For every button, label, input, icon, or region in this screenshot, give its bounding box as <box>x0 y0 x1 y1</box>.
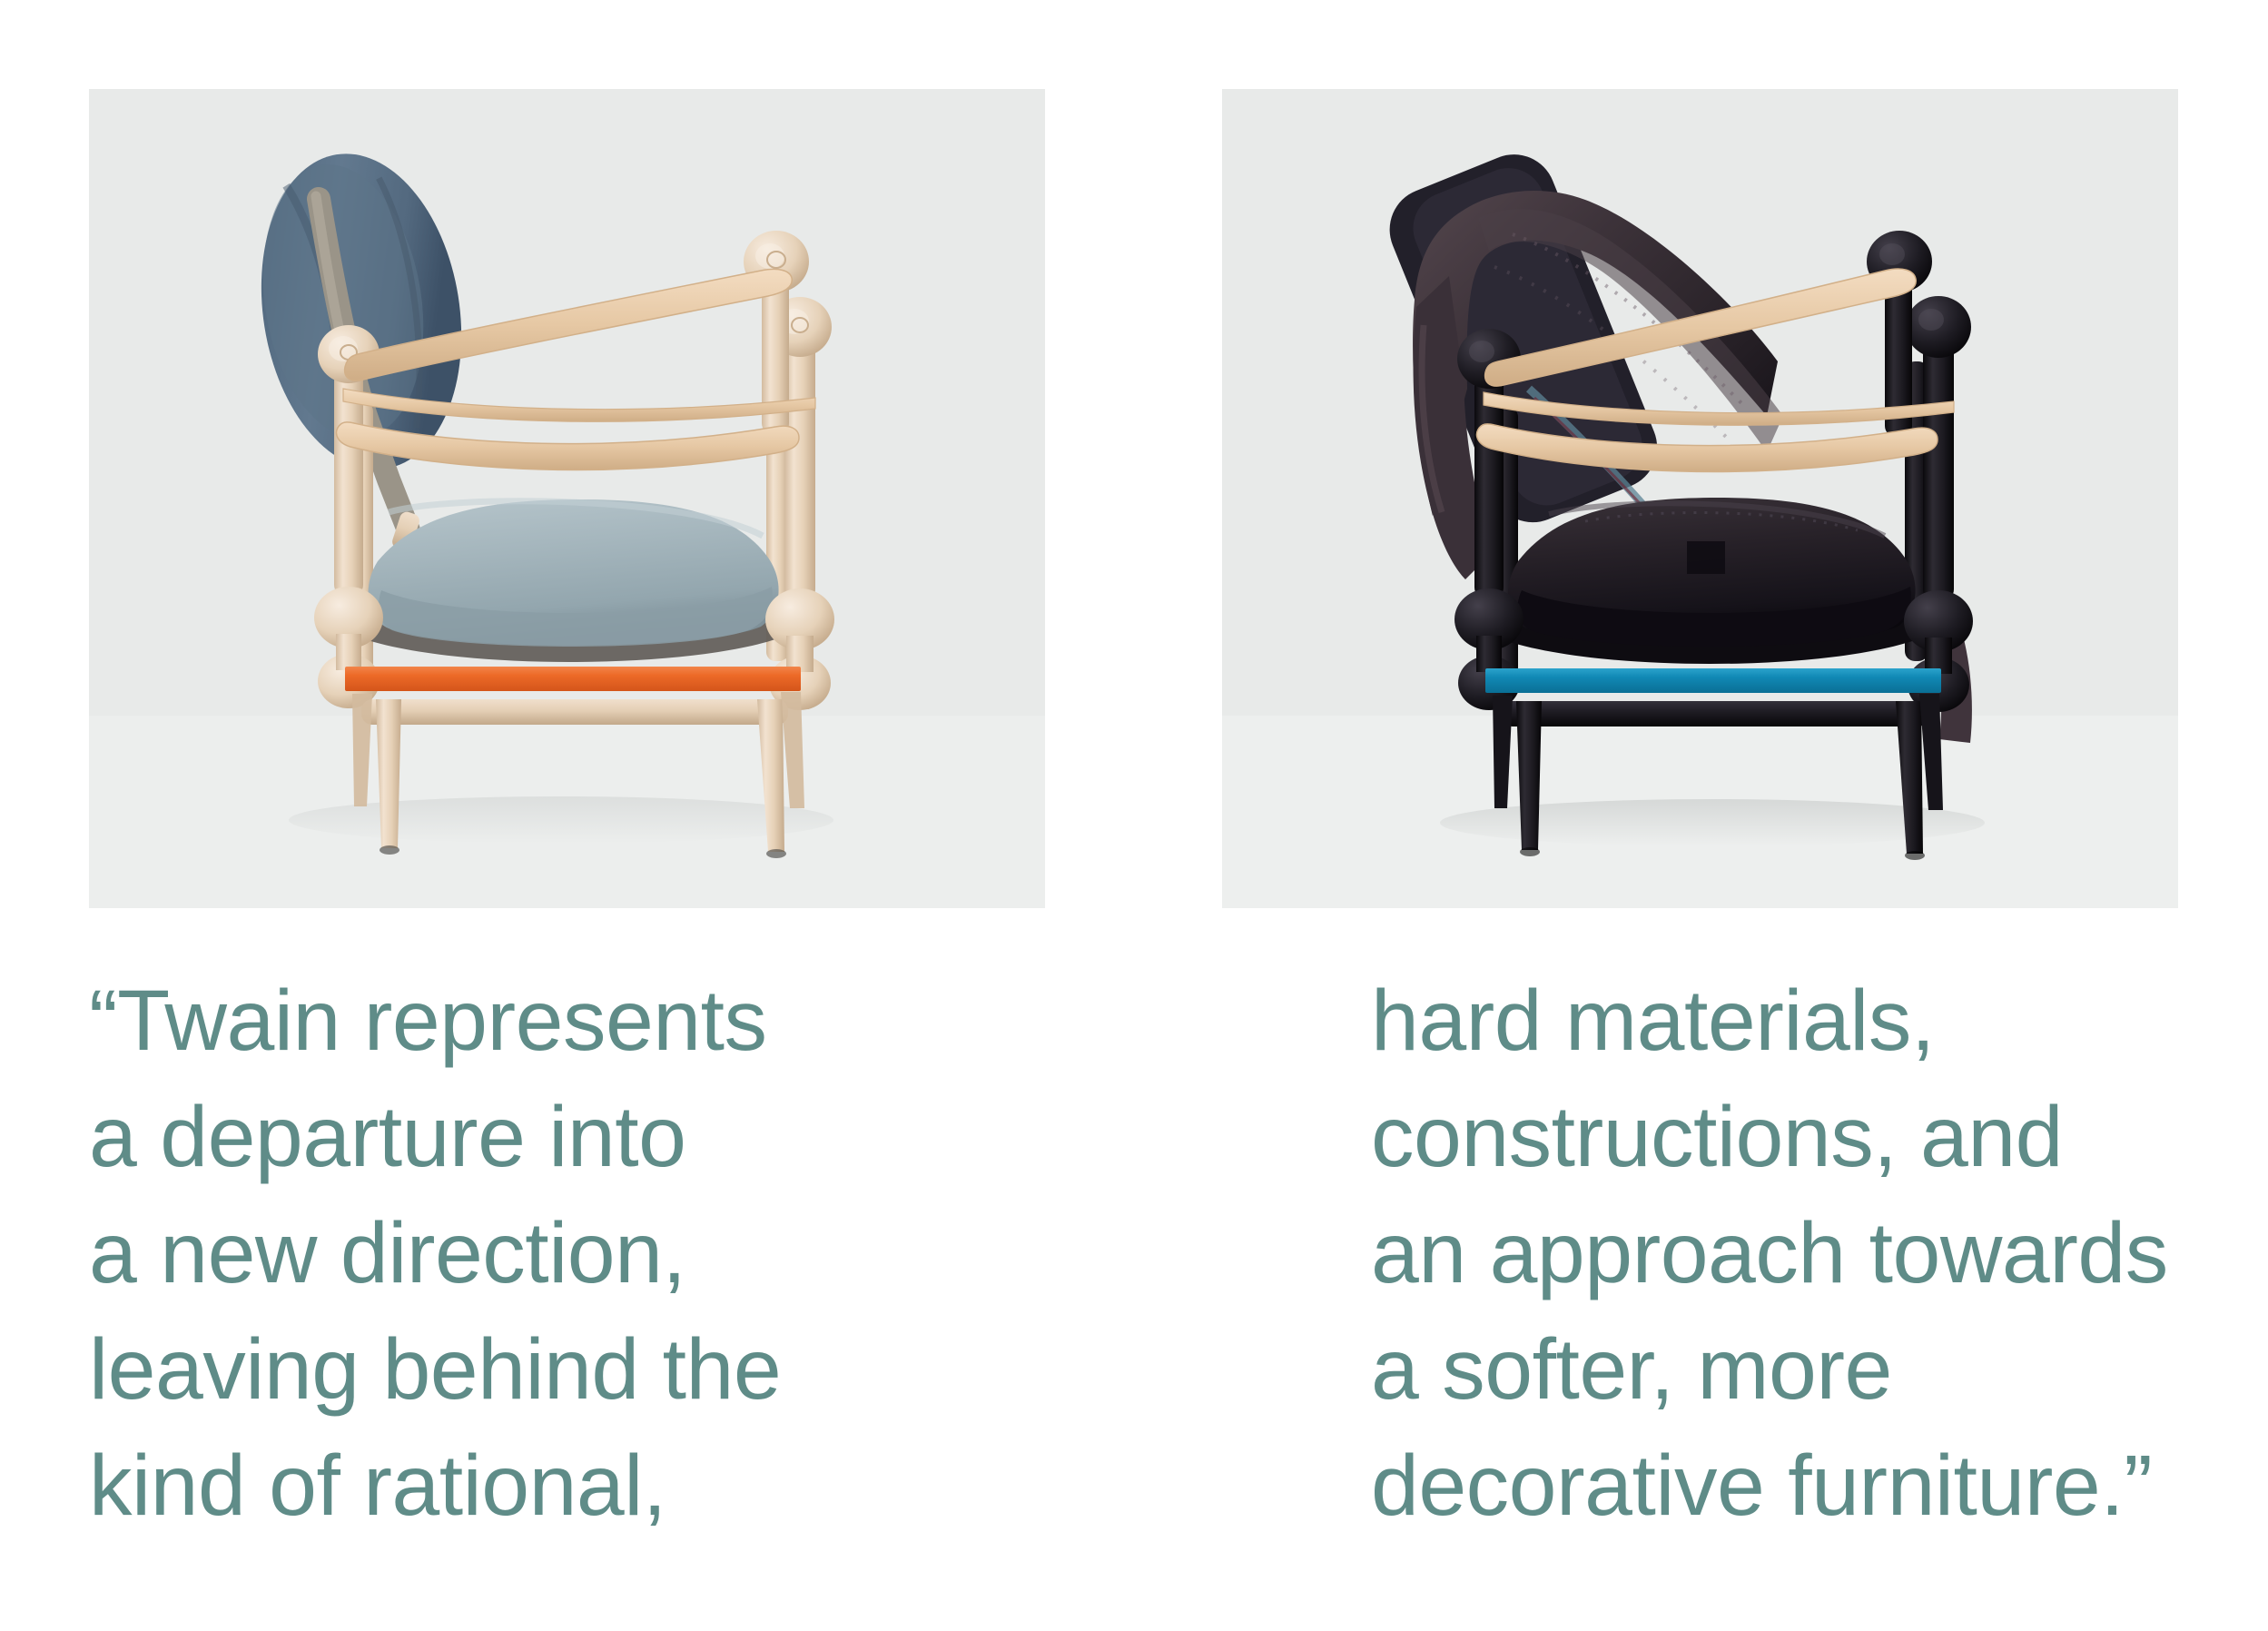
quote-line: constructions, and <box>1371 1079 2268 1195</box>
quote-line: decorative furniture.” <box>1371 1428 2268 1544</box>
product-photo-chair-natural-oak[interactable] <box>89 89 1045 908</box>
pull-quote: “Twain represents a departure into a new… <box>0 963 2268 1544</box>
accent-strap-blue <box>1485 668 1941 693</box>
product-photo-chair-black-ash[interactable] <box>1222 89 2178 908</box>
quote-line: a softer, more <box>1371 1311 2268 1428</box>
quote-line: kind of rational, <box>89 1428 1139 1544</box>
quote-column-right: hard materials, constructions, and an ap… <box>1139 963 2268 1544</box>
quote-line: an approach towards <box>1371 1195 2268 1311</box>
quote-line: “Twain represents <box>89 963 1139 1079</box>
quote-line: a new direction, <box>89 1195 1139 1311</box>
chair-natural-oak-illustration <box>89 89 1045 908</box>
page-root: “Twain represents a departure into a new… <box>0 0 2268 1631</box>
quote-line: hard materials, <box>1371 963 2268 1079</box>
accent-strap-orange <box>345 667 801 691</box>
quote-line: leaving behind the <box>89 1311 1139 1428</box>
quote-column-left: “Twain represents a departure into a new… <box>0 963 1139 1544</box>
quote-line: a departure into <box>89 1079 1139 1195</box>
chair-black-ash-illustration <box>1222 89 2178 908</box>
product-image-gallery <box>89 89 2179 908</box>
